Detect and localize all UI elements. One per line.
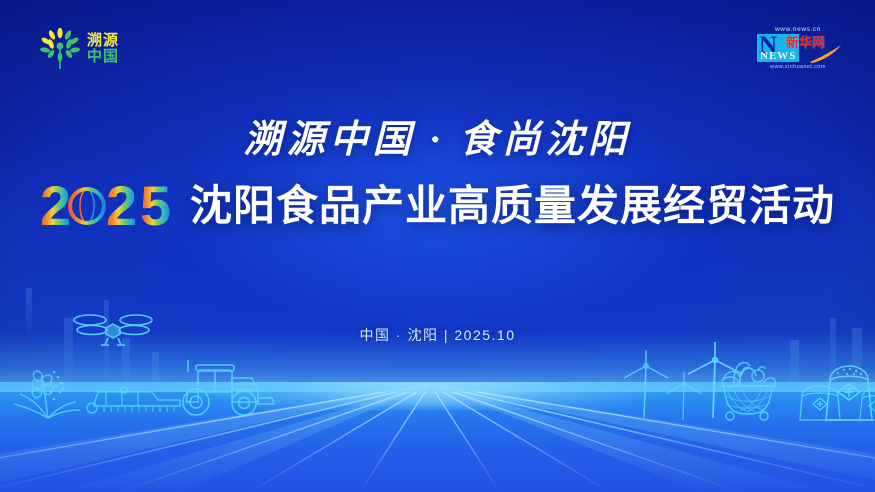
xinhua-url-bottom: www.xinhuanet.com <box>757 64 839 70</box>
svg-text:2: 2 <box>106 179 136 233</box>
poster-subtitle: 溯源中国 · 食尚沈阳 <box>0 108 875 163</box>
brand-logo-suyuan[interactable]: 溯源 中国 <box>40 27 119 71</box>
title-block: 溯源中国 · 食尚沈阳 2 <box>0 108 875 233</box>
poster-headline: 沈阳食品产业高质量发展经贸活动 <box>190 185 835 227</box>
brand-logo-xinhua[interactable]: www.news.cn N NEWS 新华网 www.xinhuanet.com <box>757 26 839 70</box>
svg-text:5: 5 <box>140 179 170 233</box>
event-dateline: 中国 · 沈阳 | 2025.10 <box>0 325 875 345</box>
poster-canvas: 溯源 中国 www.news.cn N NEWS 新华网 www.xinhuan… <box>0 0 875 492</box>
svg-text:2: 2 <box>40 179 70 233</box>
sunflower-logo-icon <box>40 27 80 71</box>
brand-logo-label: 溯源 中国 <box>87 33 119 65</box>
ground-plane <box>0 382 875 492</box>
headline-row: 2 2 5 沈阳食品产业高质量发展经贸活动 <box>0 179 875 233</box>
year-2025-graphic: 2 2 5 <box>40 179 176 233</box>
xinhua-swoosh-icon <box>809 44 843 64</box>
xinhua-logomark: N NEWS 新华网 <box>757 34 839 62</box>
xinhua-news-text: NEWS <box>760 51 796 62</box>
